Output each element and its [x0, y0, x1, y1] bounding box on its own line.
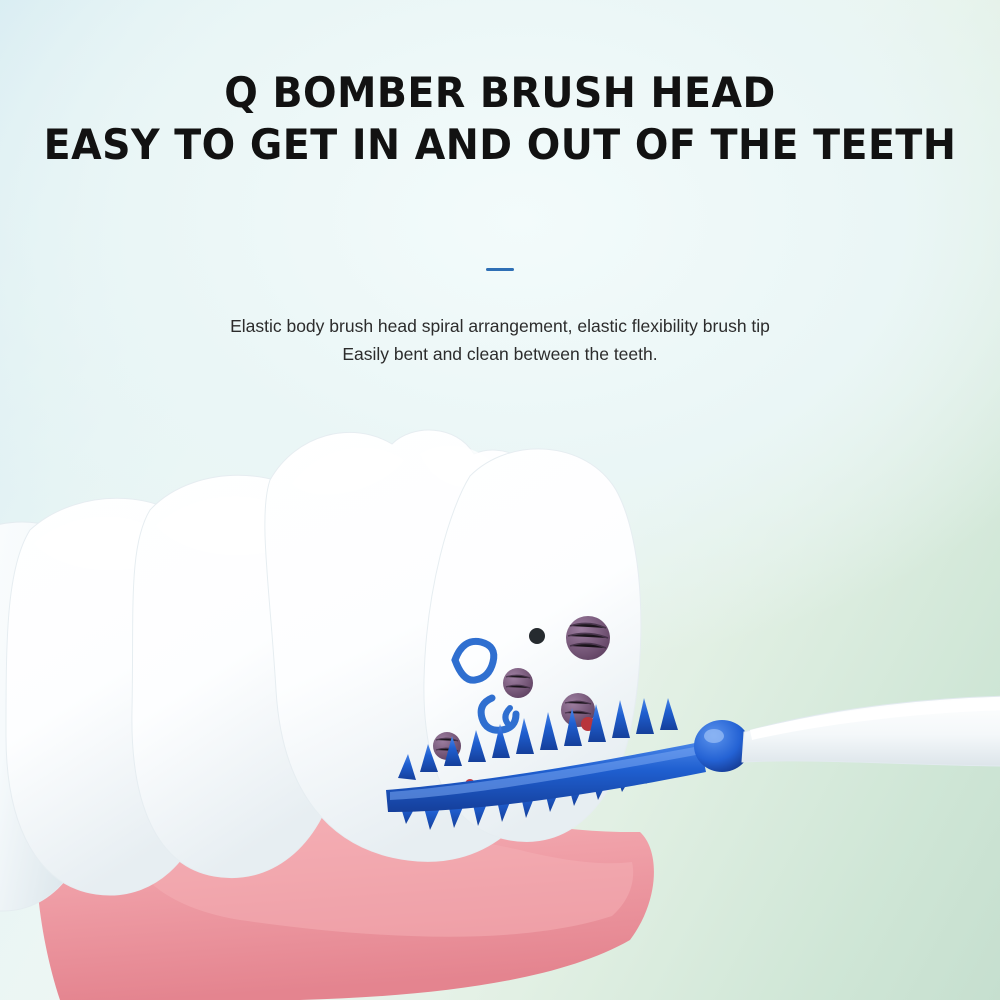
illustration [0, 380, 1000, 1000]
divider [486, 268, 514, 271]
subtitle-block: Elastic body brush head spiral arrangeme… [0, 312, 1000, 369]
brush-knob [694, 720, 750, 772]
promo-banner: Q BOMBER BRUSH HEAD EASY TO GET IN AND O… [0, 0, 1000, 1000]
bacteria-germ [503, 668, 533, 698]
headline-line-2: EASY TO GET IN AND OUT OF THE TEETH [30, 124, 970, 167]
subtitle-line-1: Elastic body brush head spiral arrangeme… [0, 312, 1000, 340]
brush-handle [742, 696, 1000, 766]
headline-block: Q BOMBER BRUSH HEAD EASY TO GET IN AND O… [0, 72, 1000, 167]
bacteria-germ [566, 616, 610, 660]
bacteria-germ [529, 628, 545, 644]
subtitle-line-2: Easily bent and clean between the teeth. [0, 340, 1000, 368]
headline-line-1: Q BOMBER BRUSH HEAD [30, 72, 970, 115]
